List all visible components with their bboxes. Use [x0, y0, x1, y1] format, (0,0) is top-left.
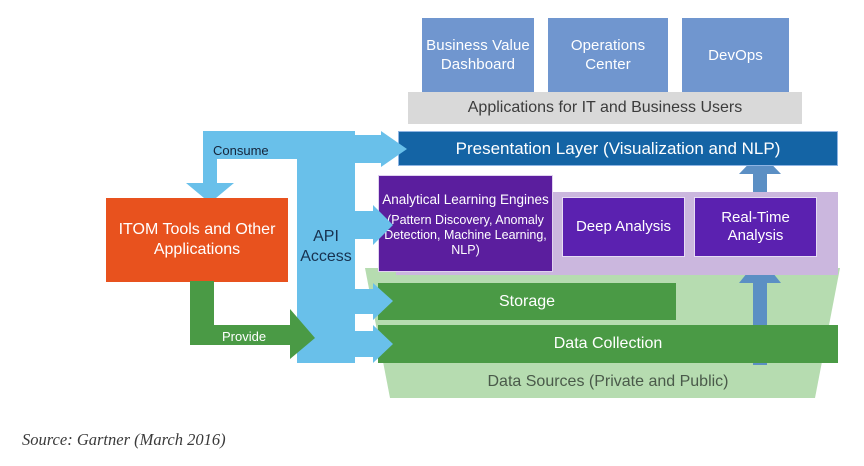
- source-caption: Source: Gartner (March 2016): [22, 430, 226, 450]
- app-box-label: DevOps: [708, 46, 763, 65]
- presentation-layer-bar[interactable]: Presentation Layer (Visualization and NL…: [398, 131, 838, 166]
- app-box-label: Operations Center: [548, 36, 668, 74]
- app-box-business-value-dashboard[interactable]: Business Value Dashboard: [422, 18, 534, 92]
- storage-label: Storage: [499, 293, 555, 311]
- app-box-label: Business Value Dashboard: [422, 36, 534, 74]
- provide-label: Provide: [222, 329, 266, 344]
- applications-bar-label: Applications for IT and Business Users: [468, 99, 743, 117]
- api-access-label-line1: API: [313, 227, 339, 247]
- real-time-analysis-box[interactable]: Real-Time Analysis: [694, 197, 817, 257]
- api-arrow-to-presentation: [355, 131, 411, 167]
- consume-arrow: [186, 131, 311, 203]
- deep-analysis-box[interactable]: Deep Analysis: [562, 197, 685, 257]
- api-arrow-to-data-collection: [355, 325, 395, 363]
- itom-label: ITOM Tools and Other Applications: [106, 220, 288, 260]
- api-access-label-line2: Access: [300, 247, 352, 267]
- data-collection-bar[interactable]: Data Collection: [378, 325, 838, 363]
- storage-bar[interactable]: Storage: [378, 283, 676, 320]
- real-time-analysis-label: Real-Time Analysis: [695, 209, 816, 245]
- diagram-canvas: Business Value Dashboard Operations Cent…: [0, 0, 864, 466]
- deep-analysis-label: Deep Analysis: [576, 218, 671, 236]
- data-collection-label: Data Collection: [554, 335, 663, 353]
- presentation-layer-label: Presentation Layer (Visualization and NL…: [456, 139, 781, 159]
- itom-tools-box[interactable]: ITOM Tools and Other Applications: [106, 198, 288, 282]
- applications-bar: Applications for IT and Business Users: [408, 92, 802, 124]
- engines-detail: (Pattern Discovery, Anomaly Detection, M…: [381, 213, 550, 258]
- api-arrow-to-storage: [355, 283, 395, 320]
- consume-label: Consume: [213, 143, 269, 158]
- app-box-devops[interactable]: DevOps: [682, 18, 789, 92]
- provide-arrow: [190, 281, 315, 359]
- data-sources-label: Data Sources (Private and Public): [488, 373, 729, 391]
- api-arrow-to-analytics: [355, 205, 395, 245]
- app-box-operations-center[interactable]: Operations Center: [548, 18, 668, 92]
- data-sources-label-wrap: Data Sources (Private and Public): [378, 365, 838, 399]
- analytical-learning-engines-box[interactable]: Analytical Learning Engines (Pattern Dis…: [378, 175, 553, 272]
- engines-title: Analytical Learning Engines: [382, 192, 549, 208]
